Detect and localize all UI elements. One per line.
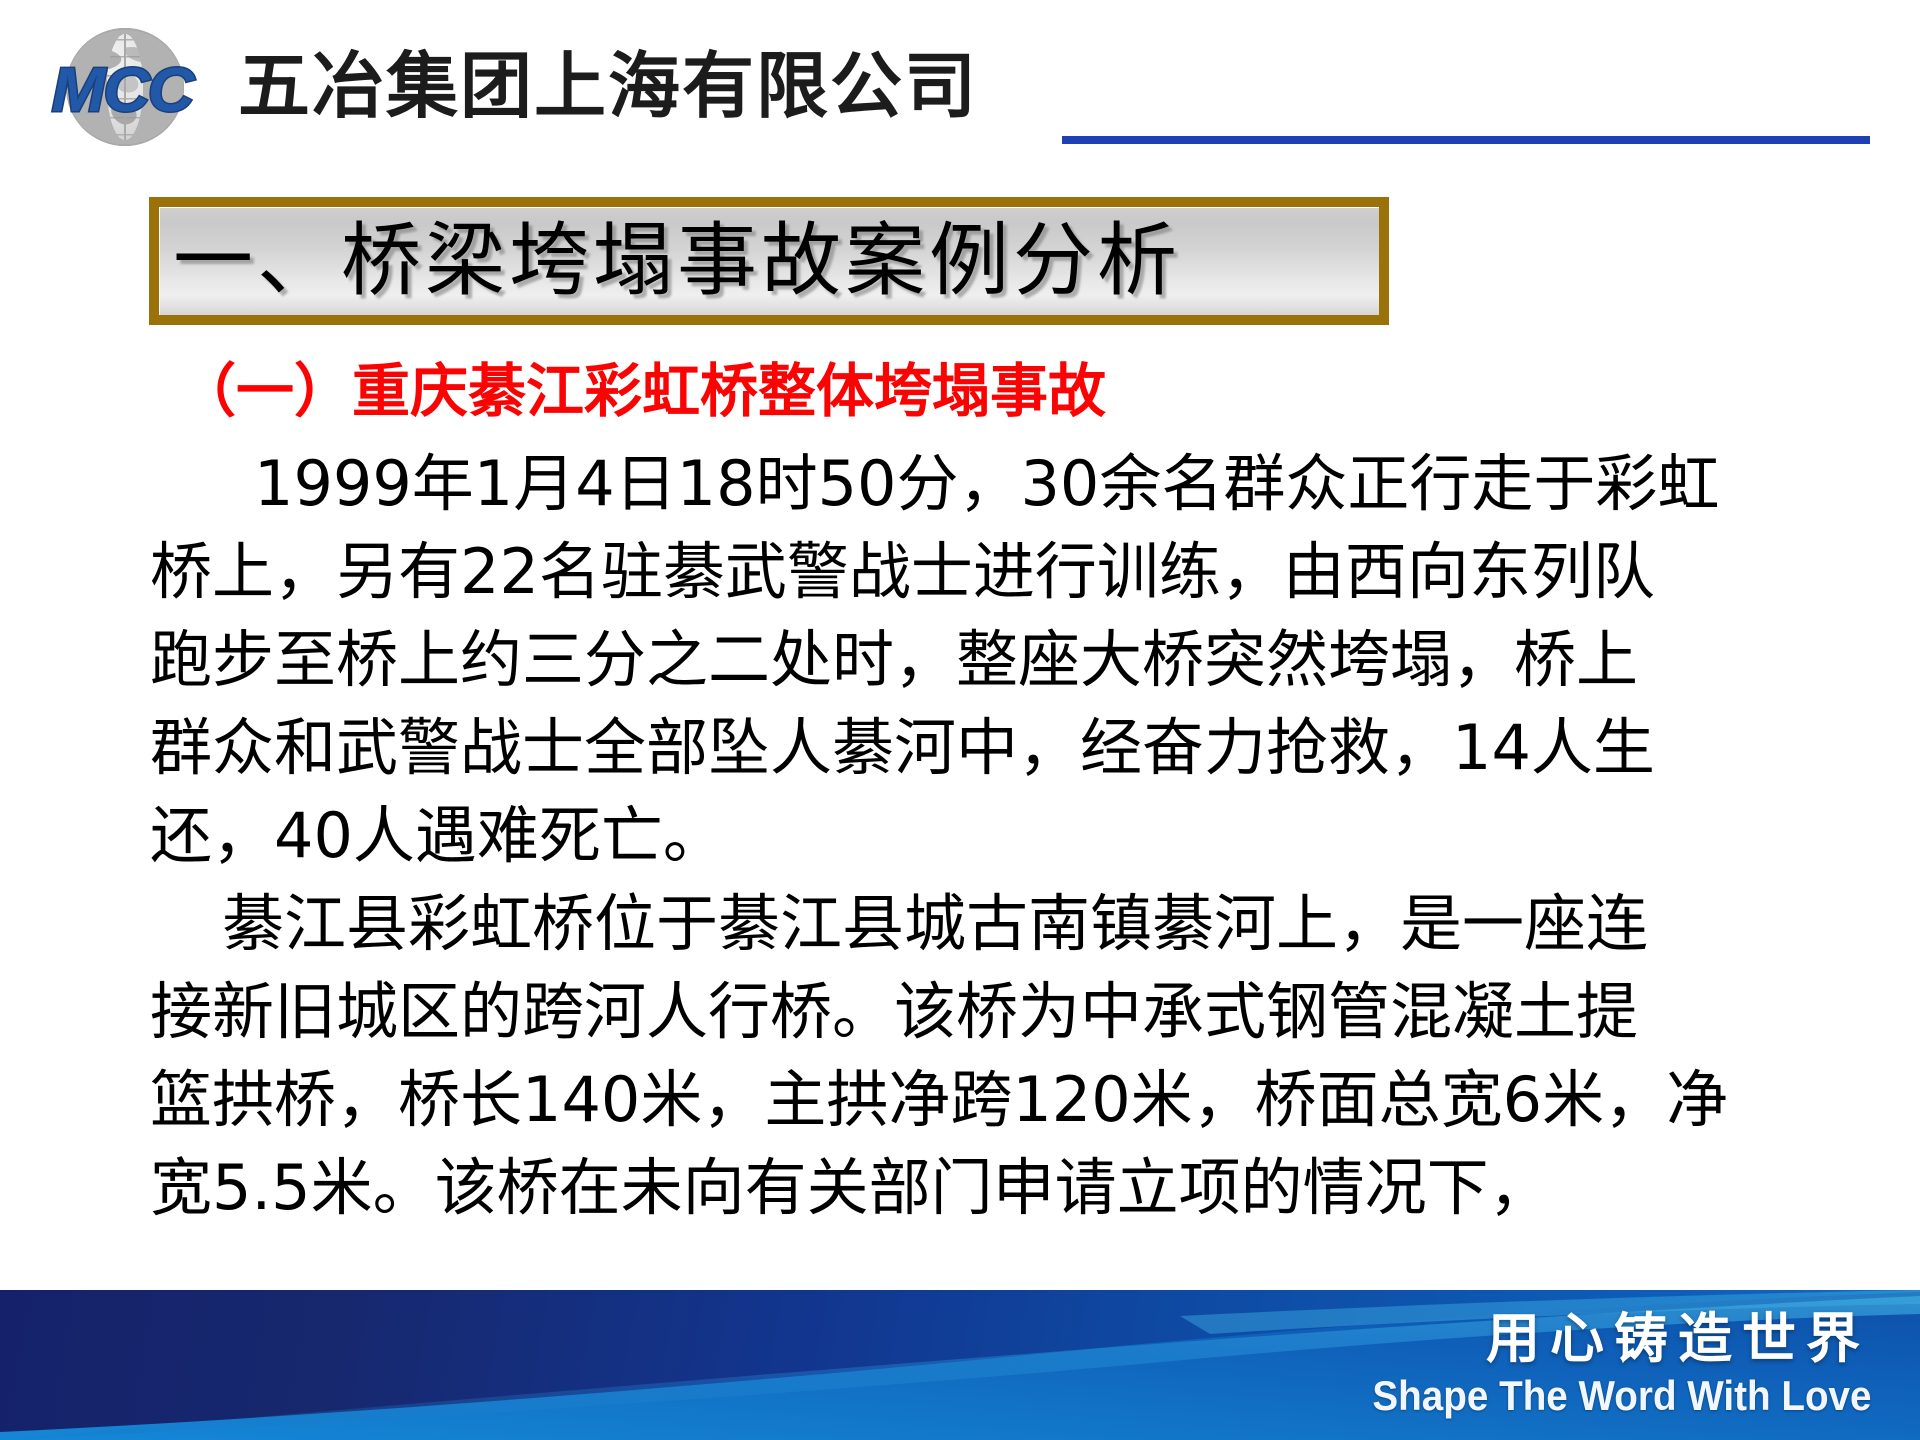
company-name: 五冶集团上海有限公司: [238, 38, 978, 134]
slide-canvas: MCC 五冶集团上海有限公司 一、桥梁垮塌事故案例分析 （一）重庆綦江彩虹桥整体…: [0, 0, 1920, 1440]
body-line: 綦江县彩虹桥位于綦江县城古南镇綦河上，是一座连: [150, 880, 1820, 968]
body-line: 桥上，另有22名驻綦武警战士进行训练，由西向东列队: [150, 528, 1820, 616]
footer-slogan-cn: 用心铸造世界: [1329, 1306, 1872, 1372]
mcc-logo: MCC: [14, 26, 230, 148]
section-title-banner: 一、桥梁垮塌事故案例分析: [149, 197, 1389, 325]
body-line: 群众和武警战士全部坠人綦河中，经奋力抢救，14人生: [150, 704, 1820, 792]
section-title-text: 一、桥梁垮塌事故案例分析: [159, 209, 1181, 313]
mcc-logo-wordmark: MCC: [10, 60, 235, 122]
slide-footer: 用心铸造世界 Shape The Word With Love: [0, 1290, 1920, 1440]
slide-header: MCC 五冶集团上海有限公司: [0, 0, 1920, 170]
section-title-banner-inner: 一、桥梁垮塌事故案例分析: [159, 207, 1379, 315]
body-line: 宽5.5米。该桥在未向有关部门申请立项的情况下，: [150, 1144, 1820, 1232]
body-line: 接新旧城区的跨河人行桥。该桥为中承式钢管混凝土提: [150, 968, 1820, 1056]
body-line: 跑步至桥上约三分之二处时，整座大桥突然垮塌，桥上: [150, 616, 1820, 704]
footer-slogan-en: Shape The Word With Love: [1373, 1372, 1872, 1420]
body-text-block: 1999年1月4日18时50分，30余名群众正行走于彩虹 桥上，另有22名驻綦武…: [150, 440, 1820, 1232]
subsection-heading: （一）重庆綦江彩虹桥整体垮塌事故: [178, 356, 1106, 426]
header-divider-rule: [1062, 136, 1870, 144]
body-line: 篮拱桥，桥长140米，主拱净跨120米，桥面总宽6米，净: [150, 1056, 1820, 1144]
body-line: 1999年1月4日18时50分，30余名群众正行走于彩虹: [150, 440, 1820, 528]
footer-slogan: 用心铸造世界 Shape The Word With Love: [1329, 1306, 1872, 1420]
body-line: 还，40人遇难死亡。: [150, 792, 1820, 880]
